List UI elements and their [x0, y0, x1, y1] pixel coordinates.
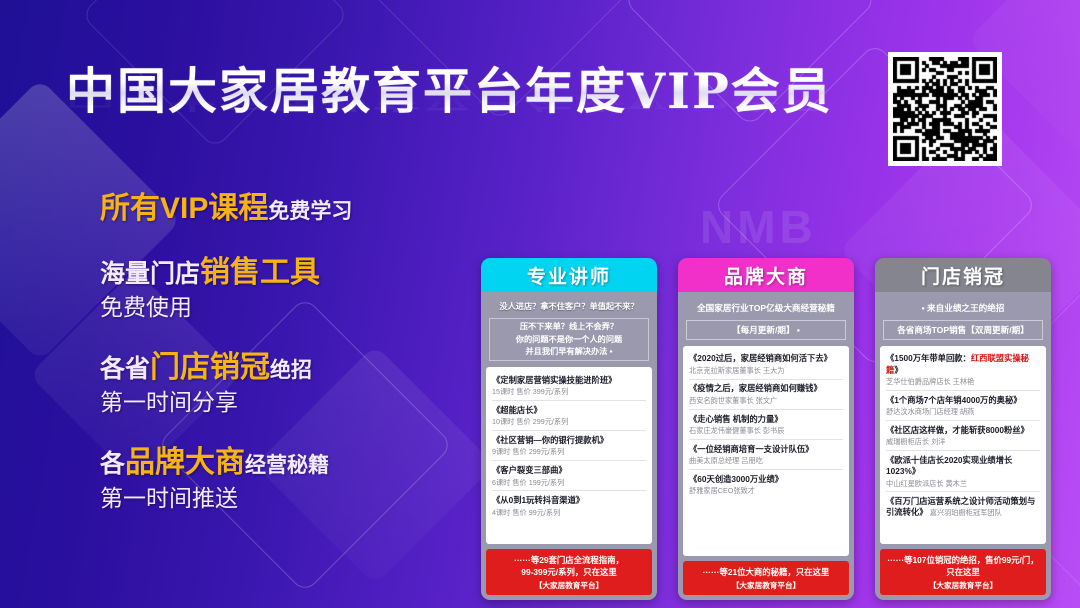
card-title: 专业讲师 — [481, 258, 657, 292]
poster-canvas: NMB 中国大家居教育平台年度VIP会员 中国大家居教育平台年度VIP会员 所有… — [0, 0, 1080, 608]
feature-emphasis: 品牌大商 — [125, 446, 245, 479]
feature-normal: 免费学习 — [268, 200, 352, 223]
list-item-subtitle: 北京克拉斯家居董事长 王大为 — [689, 366, 843, 375]
card-footer-main-2: 只在这里 — [884, 566, 1042, 578]
card-intro-box: 【每月更新/期】 ▪ — [686, 320, 846, 340]
list-item[interactable]: 《百万门店运营系统之设计师活动策划与引流转化》 嘉兴羽珀橱柜冠军团队 — [886, 492, 1040, 521]
list-item[interactable]: 《超能店长》10课时 售价 299元/系列 — [492, 401, 646, 431]
course-card-instructor[interactable]: 专业讲师没人进店？拿不住客户？单值起不来？压不下来单？线上不会弄？你的问题不是你… — [481, 258, 657, 600]
list-item-title: 《超能店长》 — [492, 405, 646, 416]
card-body: 没人进店？拿不住客户？单值起不来？压不下来单？线上不会弄？你的问题不是你一个人的… — [481, 292, 657, 600]
feature-item: 海量门店销售工具 免费使用 — [100, 254, 480, 323]
card-footer-brand: 【大家居教育平台】 — [490, 580, 648, 591]
card-footer-main-2: 99-399元/系列，只在这里 — [490, 566, 648, 578]
card-footer: ······等29套门店全流程指南，99-399元/系列，只在这里【大家居教育平… — [486, 549, 652, 595]
course-card-top-sales[interactable]: 门店销冠▪ 来自业绩之王的绝招各省商场TOP销售【双周更新/期】《1500万年带… — [875, 258, 1051, 600]
list-item[interactable]: 《1个商场7个店年销4000万的奥秘》舒达汶水商场门店经理 胡燕 — [886, 391, 1040, 421]
feature-prefix: 各 — [100, 450, 125, 478]
list-item-subtitle: 中山红星欧派店长 黄木兰 — [886, 479, 1040, 488]
card-intro-line: 并且我们早有解决办法 ▪ — [491, 346, 647, 358]
card-intro-box: 压不下来单？线上不会弄？你的问题不是你一个人的问题并且我们早有解决办法 ▪ — [489, 318, 649, 361]
qr-code-image — [893, 57, 997, 161]
list-item-title: 《客户裂变三部曲》 — [492, 465, 646, 476]
list-item-subtitle: 10课时 售价 299元/系列 — [492, 417, 646, 426]
list-item-title: 《一位经销商培育一支设计队伍》 — [689, 444, 843, 455]
feature-item: 各品牌大商经营秘籍 第一时间推送 — [100, 444, 480, 513]
card-title: 品牌大商 — [678, 258, 854, 292]
list-item-subtitle: 舒达汶水商场门店经理 胡燕 — [886, 407, 1040, 416]
list-item-title: 《百万门店运营系统之设计师活动策划与引流转化》 嘉兴羽珀橱柜冠军团队 — [886, 496, 1040, 518]
list-item-subtitle: 4课时 售价 99元/系列 — [492, 508, 646, 517]
list-item-subtitle: 西安名韵世家董事长 张文广 — [689, 396, 843, 405]
feature-prefix: 海量门店 — [100, 260, 200, 288]
card-intro-line: 你的问题不是你一个人的问题 — [491, 334, 647, 346]
course-list: 《1500万年带单回款：红西联盟实操秘籍》芝华仕伯爵品牌店长 王林艳《1个商场7… — [880, 346, 1046, 544]
page-title-reflection: 中国大家居教育平台年度VIP会员 — [66, 84, 833, 120]
list-item[interactable]: 《疫情之后，家居经销商如何赚钱》西安名韵世家董事长 张文广 — [689, 380, 843, 410]
list-item-subtitle: 芝华仕伯爵品牌店长 王林艳 — [886, 377, 1040, 386]
list-item[interactable]: 《从0到1玩转抖音渠道》4课时 售价 99元/系列 — [492, 491, 646, 520]
card-footer-main: ······等107位销冠的绝招，售价99元/门， — [884, 554, 1042, 566]
feature-subline: 第一时间分享 — [100, 388, 480, 418]
feature-subline: 第一时间推送 — [100, 484, 480, 514]
card-footer-brand: 【大家居教育平台】 — [884, 580, 1042, 591]
list-item[interactable]: 《欧派十佳店长2020实现业绩增长1023%》中山红星欧派店长 黄木兰 — [886, 451, 1040, 492]
feature-emphasis: 门店销冠 — [150, 351, 270, 384]
list-item[interactable]: 《社区店这样做，才能斩获8000粉丝》威瑞橱柜店长 刘洋 — [886, 421, 1040, 451]
card-intro-line: ▪ 来自业绩之王的绝招 — [880, 298, 1046, 317]
card-intro-line: 全国家居行业TOP亿级大商经营秘籍 — [683, 298, 849, 317]
list-item-title: 《疫情之后，家居经销商如何赚钱》 — [689, 383, 843, 394]
course-list: 《定制家居营销实操技能进阶班》15课时 售价 399元/系列《超能店长》10课时… — [486, 367, 652, 543]
card-footer-brand: 【大家居教育平台】 — [687, 580, 845, 591]
list-item-subtitle: 威瑞橱柜店长 刘洋 — [886, 437, 1040, 446]
list-item[interactable]: 《1500万年带单回款：红西联盟实操秘籍》芝华仕伯爵品牌店长 王林艳 — [886, 350, 1040, 391]
list-item[interactable]: 《2020过后，家居经销商如何活下去》北京克拉斯家居董事长 王大为 — [689, 350, 843, 380]
card-body: 全国家居行业TOP亿级大商经营秘籍【每月更新/期】 ▪《2020过后，家居经销商… — [678, 292, 854, 600]
list-item-subtitle: 石家庄龙伟豪健董事长 彭书辰 — [689, 426, 843, 435]
list-item[interactable]: 《60天创造3000万业绩》舒雅家居CEO张致才 — [689, 470, 843, 499]
list-item-title: 《60天创造3000万业绩》 — [689, 474, 843, 485]
list-item[interactable]: 《一位经销商培育一支设计队伍》曲美太原总经理 吕朋吃 — [689, 440, 843, 470]
list-item-subtitle: 15课时 售价 399元/系列 — [492, 387, 646, 396]
feature-prefix: 各省 — [100, 355, 150, 383]
list-item-subtitle: 舒雅家居CEO张致才 — [689, 486, 843, 495]
card-footer-main: ······等21位大商的秘籍，只在这里 — [687, 566, 845, 578]
card-footer: ······等21位大商的秘籍，只在这里【大家居教育平台】 — [683, 561, 849, 595]
list-item[interactable]: 《定制家居营销实操技能进阶班》15课时 售价 399元/系列 — [492, 371, 646, 401]
feature-emphasis: 销售工具 — [200, 256, 320, 289]
list-item[interactable]: 《客户裂变三部曲》6课时 售价 199元/系列 — [492, 461, 646, 491]
feature-normal: 经营秘籍 — [245, 454, 329, 477]
course-list: 《2020过后，家居经销商如何活下去》北京克拉斯家居董事长 王大为《疫情之后，家… — [683, 346, 849, 556]
qr-code[interactable] — [888, 52, 1002, 166]
list-item-title: 《社区店这样做，才能斩获8000粉丝》 — [886, 425, 1040, 436]
feature-list: 所有VIP课程免费学习 海量门店销售工具 免费使用 各省门店销冠绝招 第一时间分… — [100, 190, 480, 540]
card-intro-line: 没人进店？拿不住客户？单值起不来？ — [486, 298, 652, 317]
card-intro-box: 各省商场TOP销售【双周更新/期】 — [883, 320, 1043, 340]
card-body: ▪ 来自业绩之王的绝招各省商场TOP销售【双周更新/期】《1500万年带单回款：… — [875, 292, 1051, 600]
list-item-title: 《1个商场7个店年销4000万的奥秘》 — [886, 395, 1040, 406]
list-item-title: 《2020过后，家居经销商如何活下去》 — [689, 353, 843, 364]
feature-subline: 免费使用 — [100, 293, 480, 323]
card-intro-line: 压不下来单？线上不会弄？ — [491, 321, 647, 333]
list-item[interactable]: 《社区营销—你的银行提款机》9课时 售价 299元/系列 — [492, 431, 646, 461]
list-item-subtitle: 6课时 售价 199元/系列 — [492, 478, 646, 487]
feature-emphasis: 所有VIP课程 — [100, 192, 268, 225]
list-item-subtitle: 曲美太原总经理 吕朋吃 — [689, 456, 843, 465]
course-card-brand-dealer[interactable]: 品牌大商全国家居行业TOP亿级大商经营秘籍【每月更新/期】 ▪《2020过后，家… — [678, 258, 854, 600]
feature-normal: 绝招 — [270, 359, 312, 382]
list-item-subtitle: 9课时 售价 299元/系列 — [492, 447, 646, 456]
feature-item: 各省门店销冠绝招 第一时间分享 — [100, 349, 480, 418]
list-item-title: 《社区营销—你的银行提款机》 — [492, 435, 646, 446]
list-item[interactable]: 《走心销售 机制的力量》石家庄龙伟豪健董事长 彭书辰 — [689, 410, 843, 440]
list-item-title: 《定制家居营销实操技能进阶班》 — [492, 375, 646, 386]
list-item-title: 《1500万年带单回款：红西联盟实操秘籍》 — [886, 353, 1040, 375]
feature-item: 所有VIP课程免费学习 — [100, 190, 480, 228]
list-item-title: 《欧派十佳店长2020实现业绩增长1023%》 — [886, 455, 1040, 477]
title-block: 中国大家居教育平台年度VIP会员 中国大家居教育平台年度VIP会员 — [66, 52, 833, 190]
card-title: 门店销冠 — [875, 258, 1051, 292]
list-item-title: 《从0到1玩转抖音渠道》 — [492, 495, 646, 506]
list-item-subtitle: 嘉兴羽珀橱柜冠军团队 — [930, 508, 1002, 517]
card-footer-main: ······等29套门店全流程指南， — [490, 554, 648, 566]
list-item-title: 《走心销售 机制的力量》 — [689, 414, 843, 425]
card-footer: ······等107位销冠的绝招，售价99元/门，只在这里【大家居教育平台】 — [880, 549, 1046, 595]
